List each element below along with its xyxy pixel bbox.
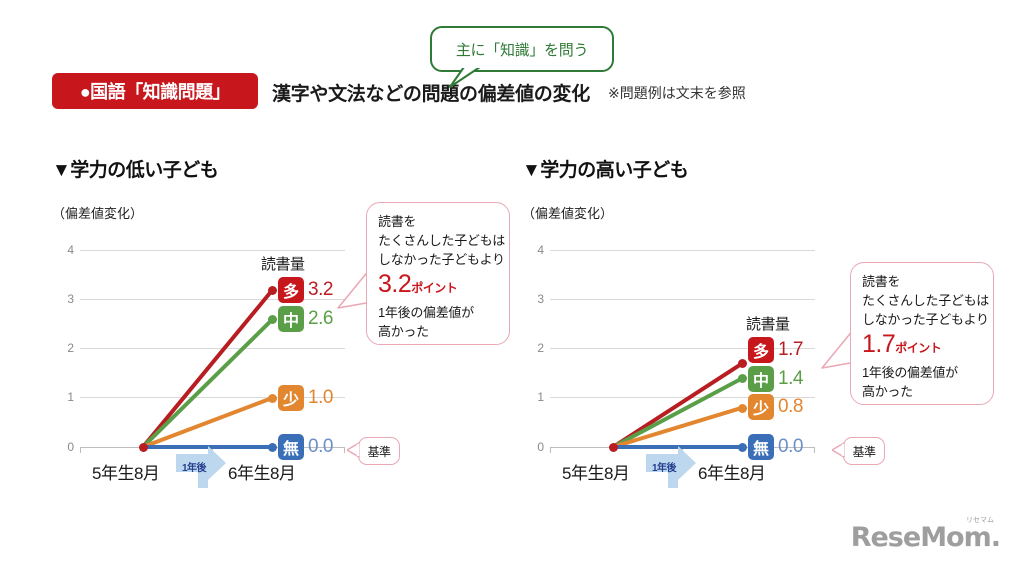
gridline-4 xyxy=(550,250,815,251)
slide-canvas: ●国語「知識問題」 漢字や文法などの問題の偏差値の変化 ※問題例は文末を参照 主… xyxy=(0,0,1016,567)
ytick-2: 2 xyxy=(56,341,74,355)
callout-low-number-row: 3.2ポイント xyxy=(378,269,498,303)
legend-title-low: 読書量 xyxy=(261,253,305,274)
chip-medium: 中 xyxy=(748,366,774,392)
value-many: 3.2 xyxy=(308,279,333,301)
section-title-low: ▼学力の低い子ども xyxy=(52,155,218,182)
gridline-3 xyxy=(80,299,345,300)
ytick-3: 3 xyxy=(526,292,544,306)
callout-low-unit: ポイント xyxy=(411,281,457,295)
callout-low: 読書を たくさんした子どもは しなかった子どもより 3.2ポイント 1年後の偏差… xyxy=(366,202,510,345)
chip-medium: 中 xyxy=(278,306,304,332)
callout-low-line-3: しなかった子どもより xyxy=(378,250,498,269)
value-few: 1.0 xyxy=(308,387,333,409)
one-year-arrow-label: 1年後 xyxy=(182,459,206,474)
resemom-logo-text: ReseMom. xyxy=(851,522,1000,553)
callout-high-line-4: 1年後の偏差値が xyxy=(862,363,982,382)
x-tick-end xyxy=(814,447,815,453)
x-tick-start xyxy=(80,447,81,453)
x-tick-start xyxy=(550,447,551,453)
callout-low-line-1: 読書を xyxy=(378,212,498,231)
datapoint-origin xyxy=(609,443,618,452)
ytick-0: 0 xyxy=(526,440,544,454)
ytick-2: 2 xyxy=(526,341,544,355)
value-few: 0.8 xyxy=(778,396,803,418)
ytick-4: 4 xyxy=(56,243,74,257)
gridline-2 xyxy=(80,348,345,349)
page-note: ※問題例は文末を参照 xyxy=(608,83,746,103)
value-none: 0.0 xyxy=(308,436,333,458)
callout-high-line-3: しなかった子どもより xyxy=(862,310,982,329)
callout-high: 読書を たくさんした子どもは しなかった子どもより 1.7ポイント 1年後の偏差… xyxy=(850,262,994,405)
ytick-3: 3 xyxy=(56,292,74,306)
chip-few: 少 xyxy=(278,385,304,411)
chip-none: 無 xyxy=(278,434,304,460)
gridline-2 xyxy=(550,348,815,349)
callout-high-number: 1.7 xyxy=(862,330,895,358)
baseline-callout-low: 基準 xyxy=(358,437,400,465)
datapoint-none xyxy=(268,443,277,452)
value-many: 1.7 xyxy=(778,339,803,361)
value-medium: 1.4 xyxy=(778,368,803,390)
callout-low-line-5: 高かった xyxy=(378,322,498,341)
callout-high-line-1: 読書を xyxy=(862,272,982,291)
chip-many: 多 xyxy=(748,337,774,363)
axis-note-low: （偏差値変化） xyxy=(52,203,143,222)
xlabel-end: 6年生8月 xyxy=(698,459,765,484)
datapoint-medium xyxy=(268,315,277,324)
baseline-callout-tail-low xyxy=(347,441,360,461)
axis-note-high: （偏差値変化） xyxy=(522,203,613,222)
callout-low-line-2: たくさんした子どもは xyxy=(378,231,498,250)
chip-many: 多 xyxy=(278,277,304,303)
xlabel-start: 5年生8月 xyxy=(562,459,629,484)
gridline-3 xyxy=(550,299,815,300)
chip-none: 無 xyxy=(748,434,774,460)
callout-high-number-row: 1.7ポイント xyxy=(862,329,982,363)
datapoint-many xyxy=(738,359,747,368)
datapoint-none xyxy=(738,443,747,452)
gridline-1 xyxy=(550,397,815,398)
callout-high-unit: ポイント xyxy=(895,341,941,355)
datapoint-medium xyxy=(738,374,747,383)
callout-low-line-4: 1年後の偏差値が xyxy=(378,303,498,322)
resemom-logo-ruby: リセマム xyxy=(966,515,994,525)
ytick-1: 1 xyxy=(526,390,544,404)
green-callout-tail xyxy=(448,66,482,88)
line-series-medium xyxy=(142,318,274,448)
legend-title-high: 読書量 xyxy=(746,313,790,334)
baseline-callout-tail-high xyxy=(832,441,845,461)
baseline-callout-high: 基準 xyxy=(843,437,885,465)
datapoint-few xyxy=(268,394,277,403)
xlabel-end: 6年生8月 xyxy=(228,459,295,484)
datapoint-few xyxy=(738,404,747,413)
ytick-1: 1 xyxy=(56,390,74,404)
resemom-logo: ReseMom. リセマム xyxy=(851,522,1000,553)
one-year-arrow-label: 1年後 xyxy=(652,459,676,474)
callout-high-line-2: たくさんした子どもは xyxy=(862,291,982,310)
datapoint-origin xyxy=(139,443,148,452)
page-title: 漢字や文法などの問題の偏差値の変化 xyxy=(272,79,590,106)
callout-high-line-5: 高かった xyxy=(862,382,982,401)
value-none: 0.0 xyxy=(778,436,803,458)
x-tick-end xyxy=(344,447,345,453)
value-medium: 2.6 xyxy=(308,308,333,330)
ytick-4: 4 xyxy=(526,243,544,257)
chip-few: 少 xyxy=(748,394,774,420)
gridline-4 xyxy=(80,250,345,251)
xlabel-start: 5年生8月 xyxy=(92,459,159,484)
callout-low-number: 3.2 xyxy=(378,270,411,298)
gridline-1 xyxy=(80,397,345,398)
datapoint-many xyxy=(268,286,277,295)
subject-badge: ●国語「知識問題」 xyxy=(52,73,258,109)
ytick-0: 0 xyxy=(56,440,74,454)
section-title-high: ▼学力の高い子ども xyxy=(522,155,688,182)
